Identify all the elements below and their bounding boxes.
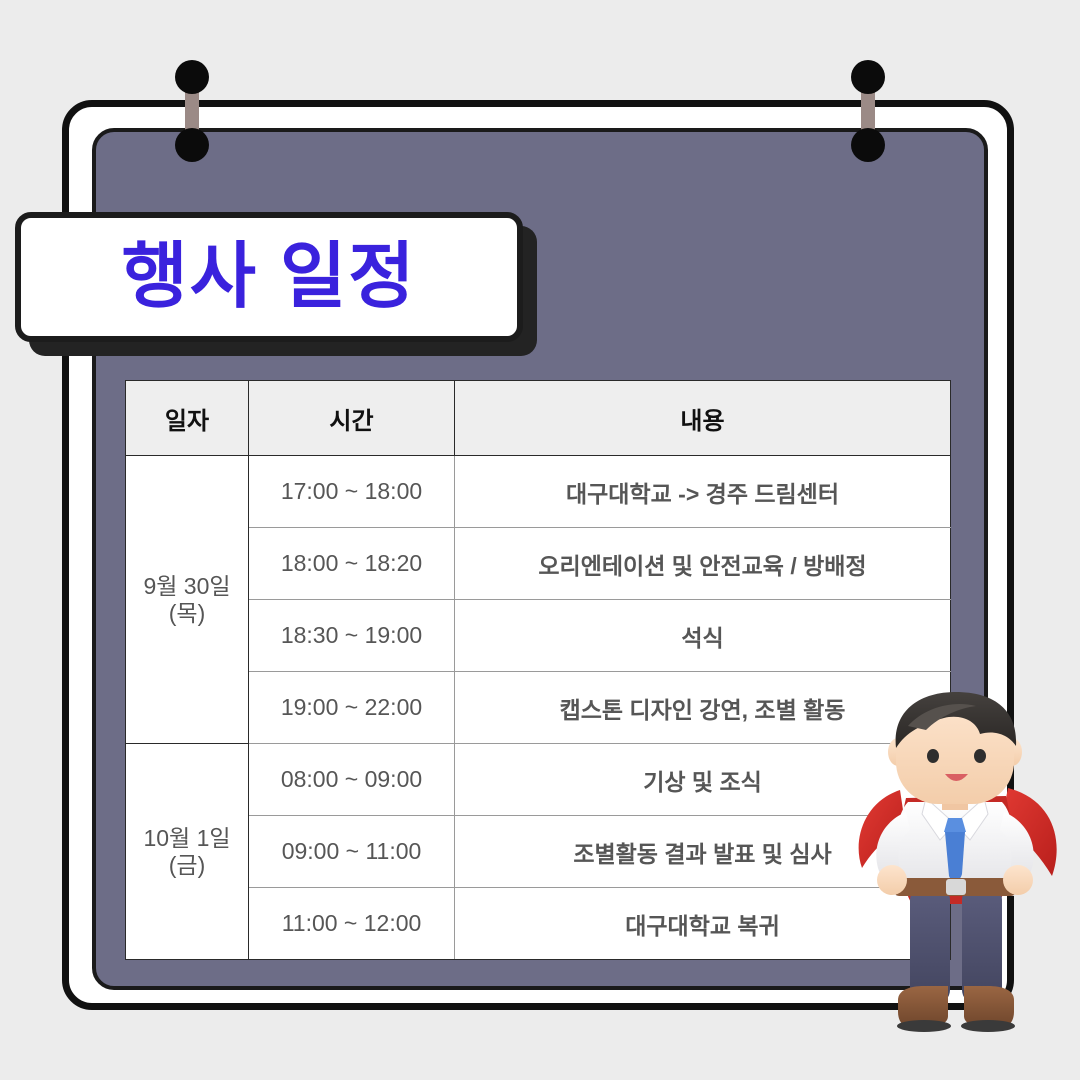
shoe-sole-right bbox=[961, 1020, 1015, 1032]
hand-right bbox=[1003, 865, 1033, 895]
table-header-row: 일자 시간 내용 bbox=[126, 381, 951, 456]
desc-cell: 오리엔테이션 및 안전교육 / 방배정 bbox=[455, 528, 951, 600]
time-cell: 18:00 ~ 18:20 bbox=[249, 528, 455, 600]
time-cell: 11:00 ~ 12:00 bbox=[249, 888, 455, 960]
date-line-1: 10월 1일 bbox=[143, 825, 230, 851]
desc-cell: 석식 bbox=[455, 600, 951, 672]
table-row: 10월 1일 (금) 08:00 ~ 09:00 기상 및 조식 bbox=[126, 744, 951, 816]
title-plaque: 행사 일정 bbox=[15, 212, 537, 356]
table-row: 19:00 ~ 22:00 캡스톤 디자인 강연, 조별 활동 bbox=[126, 672, 951, 744]
pin-head-top bbox=[851, 60, 885, 94]
pin-head-bottom bbox=[175, 128, 209, 162]
table-row: 09:00 ~ 11:00 조별활동 결과 발표 및 심사 bbox=[126, 816, 951, 888]
column-header-date: 일자 bbox=[126, 381, 249, 456]
table-row: 18:30 ~ 19:00 석식 bbox=[126, 600, 951, 672]
time-cell: 09:00 ~ 11:00 bbox=[249, 816, 455, 888]
date-cell-group-1: 9월 30일 (목) bbox=[126, 456, 249, 744]
pin-head-top bbox=[175, 60, 209, 94]
table-header: 일자 시간 내용 bbox=[126, 381, 951, 456]
date-line-1: 9월 30일 bbox=[143, 573, 230, 599]
pin-left-icon bbox=[172, 60, 212, 170]
table-row: 18:00 ~ 18:20 오리엔테이션 및 안전교육 / 방배정 bbox=[126, 528, 951, 600]
date-line-2: (목) bbox=[169, 600, 205, 626]
pin-right-icon bbox=[848, 60, 888, 170]
table-body: 9월 30일 (목) 17:00 ~ 18:00 대구대학교 -> 경주 드림센… bbox=[126, 456, 951, 960]
schedule-table: 일자 시간 내용 9월 30일 (목) 17:00 ~ 18:00 대구대학교 … bbox=[125, 380, 951, 960]
eye-left bbox=[927, 749, 939, 763]
table-row: 11:00 ~ 12:00 대구대학교 복귀 bbox=[126, 888, 951, 960]
shoe-sole-left bbox=[897, 1020, 951, 1032]
belt-buckle bbox=[946, 879, 966, 895]
time-cell: 19:00 ~ 22:00 bbox=[249, 672, 455, 744]
column-header-desc: 내용 bbox=[455, 381, 951, 456]
column-header-time: 시간 bbox=[249, 381, 455, 456]
time-cell: 18:30 ~ 19:00 bbox=[249, 600, 455, 672]
date-line-2: (금) bbox=[169, 852, 205, 878]
time-cell: 17:00 ~ 18:00 bbox=[249, 456, 455, 528]
hand-left bbox=[877, 865, 907, 895]
time-cell: 08:00 ~ 09:00 bbox=[249, 744, 455, 816]
page-title: 행사 일정 bbox=[122, 241, 417, 313]
superhero-businessman-icon bbox=[848, 690, 1063, 1050]
table-row: 9월 30일 (목) 17:00 ~ 18:00 대구대학교 -> 경주 드림센… bbox=[126, 456, 951, 528]
eye-right bbox=[974, 749, 986, 763]
desc-cell: 대구대학교 -> 경주 드림센터 bbox=[455, 456, 951, 528]
pin-head-bottom bbox=[851, 128, 885, 162]
date-cell-group-2: 10월 1일 (금) bbox=[126, 744, 249, 960]
title-plaque-box: 행사 일정 bbox=[15, 212, 523, 342]
